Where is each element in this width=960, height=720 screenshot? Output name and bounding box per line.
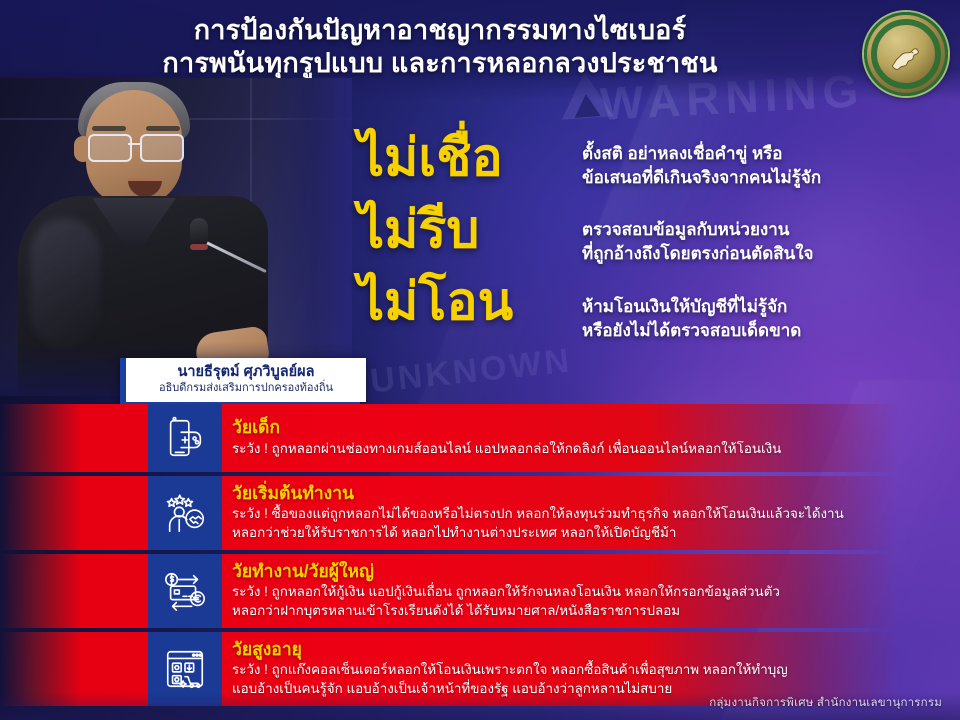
band-line-1: ระวัง ! ถูกแก๊งคอลเซ็นเตอร์หลอกให้โอนเงิ… bbox=[232, 661, 920, 680]
slogan-list: ไม่เชื่อ ไม่รีบ ไม่โอน bbox=[358, 132, 588, 348]
unknown-watermark: UNKNOWN bbox=[369, 342, 574, 402]
detail-1-line-1: ตั้งสติ อย่าหลงเชื่อคำขู่ หรือ bbox=[582, 142, 942, 166]
detail-1-line-2: ข้อเสนอที่ดีเกินจริงจากคนไม่รู้จัก bbox=[582, 166, 942, 190]
age-band-list: วัยเด็ก ระวัง ! ถูกหลอกผ่านช่องทางเกมส์อ… bbox=[0, 404, 960, 710]
detail-item-1: ตั้งสติ อย่าหลงเชื่อคำขู่ หรือ ข้อเสนอที… bbox=[582, 142, 942, 190]
band-icon-box bbox=[148, 476, 222, 550]
poster-canvas: WARNING UNKNOWN การป้องกันปัญหาอาชญากรรม… bbox=[0, 0, 960, 720]
detail-2-line-2: ที่ถูกอ้างถึงโดยตรงก่อนตัดสินใจ bbox=[582, 242, 942, 266]
speaker-title: อธิบดีกรมส่งเสริมการปกครองท้องถิ่น bbox=[159, 382, 333, 395]
age-band-early-career: วัยเริ่มต้นทำงาน ระวัง ! ซื้อของแต่ถูกหล… bbox=[0, 476, 960, 550]
money-transfer-dollar-euro-icon bbox=[162, 568, 208, 614]
glasses-bridge bbox=[128, 143, 140, 145]
speaker-name: นายธีรุตม์ ศุภวิบูลย์ผล bbox=[177, 365, 314, 381]
detail-item-3: ห้ามโอนเงินให้บัญชีที่ไม่รู้จัก หรือยังไ… bbox=[582, 295, 942, 343]
band-line-2: หลอกว่าช่วยให้รับราชการได้ หลอกไปทำงานต่… bbox=[232, 524, 920, 543]
band-heading: วัยเด็ก bbox=[232, 418, 920, 438]
band-icon-box bbox=[148, 632, 222, 706]
page-title: การป้องกันปัญหาอาชญากรรมทางไซเบอร์ การพน… bbox=[0, 14, 880, 80]
slogan-item-2: ไม่รีบ bbox=[358, 204, 588, 256]
speaker-nameplate: นายธีรุตม์ ศุภวิบูลย์ผล อธิบดีกรมส่งเสริ… bbox=[120, 358, 366, 402]
smartphone-gamepad-icon bbox=[162, 415, 208, 461]
age-band-child: วัยเด็ก ระวัง ! ถูกหลอกผ่านช่องทางเกมส์อ… bbox=[0, 404, 960, 472]
band-line-1: ระวัง ! ถูกหลอกผ่านช่องทางเกมส์ออนไลน์ แ… bbox=[232, 440, 920, 459]
slogan-item-3: ไม่โอน bbox=[358, 276, 588, 328]
band-text: วัยเริ่มต้นทำงาน ระวัง ! ซื้อของแต่ถูกหล… bbox=[232, 476, 920, 550]
band-line-1: ระวัง ! ถูกหลอกให้กู้เงิน แอปกู้เงินเถื่… bbox=[232, 583, 920, 602]
lion-glyph-icon bbox=[883, 33, 929, 79]
band-icon-box bbox=[148, 404, 222, 472]
detail-2-line-1: ตรวจสอบข้อมูลกับหน่วยงาน bbox=[582, 218, 942, 242]
band-text: วัยเด็ก ระวัง ! ถูกหลอกผ่านช่องทางเกมส์อ… bbox=[232, 404, 920, 472]
band-heading: วัยทำงาน/วัยผู้ใหญ่ bbox=[232, 562, 920, 582]
band-heading: วัยสูงอายุ bbox=[232, 640, 920, 660]
footer-credit: กลุ่มงานกิจการพิเศษ สำนักงานเลขานุการกรม bbox=[709, 694, 942, 712]
slogan-item-1: ไม่เชื่อ bbox=[358, 132, 588, 184]
speaker-brow-right bbox=[146, 126, 180, 131]
band-text: วัยทำงาน/วัยผู้ใหญ่ ระวัง ! ถูกหลอกให้กู… bbox=[232, 554, 920, 628]
speaker-photo bbox=[0, 78, 352, 396]
detail-3-line-1: ห้ามโอนเงินให้บัญชีที่ไม่รู้จัก bbox=[582, 295, 942, 319]
band-heading: วัยเริ่มต้นทำงาน bbox=[232, 484, 920, 504]
speaker-glasses bbox=[88, 134, 188, 160]
detail-3-line-2: หรือยังไม่ได้ตรวจสอบเด็ดขาด bbox=[582, 319, 942, 343]
band-line-2: หลอกว่าฝากบุตรหลานเข้าโรงเรียนดังได้ ได้… bbox=[232, 602, 920, 621]
title-line-2: การพนันทุกรูปแบบ และการหลอกลวงประชาชน bbox=[0, 47, 880, 80]
dla-seal-icon bbox=[864, 12, 948, 96]
microphone-ring bbox=[190, 244, 208, 250]
glasses-lens-right bbox=[140, 134, 184, 162]
person-stars-handshake-icon bbox=[162, 490, 208, 536]
detail-item-2: ตรวจสอบข้อมูลกับหน่วยงาน ที่ถูกอ้างถึงโด… bbox=[582, 218, 942, 266]
age-band-adult: วัยทำงาน/วัยผู้ใหญ่ ระวัง ! ถูกหลอกให้กู… bbox=[0, 554, 960, 628]
band-icon-box bbox=[148, 554, 222, 628]
glasses-lens-left bbox=[88, 134, 132, 162]
speaker-brow-left bbox=[92, 126, 126, 131]
detail-list: ตั้งสติ อย่าหลงเชื่อคำขู่ หรือ ข้อเสนอที… bbox=[582, 142, 942, 371]
suit-highlight bbox=[30, 218, 100, 348]
title-line-1: การป้องกันปัญหาอาชญากรรมทางไซเบอร์ bbox=[0, 14, 880, 47]
band-line-1: ระวัง ! ซื้อของแต่ถูกหลอกไม่ได้ของหรือไม… bbox=[232, 505, 920, 524]
online-shopping-browser-icon bbox=[162, 646, 208, 692]
